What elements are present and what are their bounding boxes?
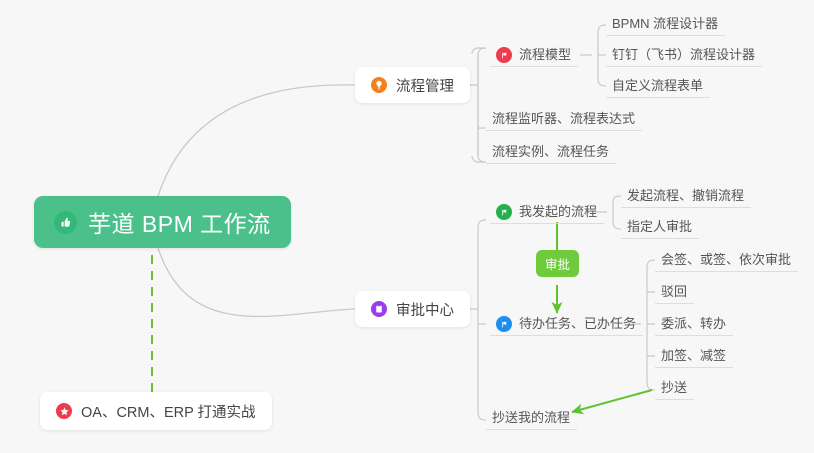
node-add-remove-sign-label: 加签、减签 — [661, 345, 726, 364]
root-node[interactable]: 芋道 BPM 工作流 — [34, 196, 291, 248]
node-bpmn-designer-label: BPMN 流程设计器 — [612, 13, 718, 32]
node-countersign[interactable]: 会签、或签、依次审批 — [655, 246, 798, 272]
node-reject-label: 驳回 — [661, 281, 687, 300]
note-node[interactable]: OA、CRM、ERP 打通实战 — [40, 392, 272, 430]
branch-approval-center-label: 审批中心 — [396, 299, 454, 320]
node-assignee-approval[interactable]: 指定人审批 — [621, 213, 699, 239]
node-cc[interactable]: 抄送 — [655, 374, 694, 400]
approval-pill-text: 审批 — [545, 254, 570, 273]
node-reject[interactable]: 驳回 — [655, 278, 694, 304]
node-process-instance[interactable]: 流程实例、流程任务 — [486, 138, 616, 164]
connector-process-model-bracket — [580, 25, 606, 86]
node-assignee-approval-label: 指定人审批 — [627, 216, 692, 235]
node-dingtalk-designer[interactable]: 钉钉（飞书）流程设计器 — [606, 41, 762, 67]
node-todo-done[interactable]: 待办任务、已办任务 — [490, 310, 643, 336]
approval-pill-label: 审批 — [536, 250, 579, 277]
root-label: 芋道 BPM 工作流 — [88, 205, 271, 239]
mindmap-canvas: 芋道 BPM 工作流 OA、CRM、ERP 打通实战 流程管理 — [0, 0, 814, 453]
node-my-initiated-label: 我发起的流程 — [519, 201, 597, 220]
node-cc-label: 抄送 — [661, 377, 687, 396]
node-process-model[interactable]: 流程模型 — [490, 41, 578, 67]
node-custom-form-label: 自定义流程表单 — [612, 75, 703, 94]
thumbs-up-icon — [54, 211, 77, 234]
arrow-cc-to-cc-to-me — [572, 390, 652, 412]
connector-root-to-approval-center — [158, 248, 355, 316]
flag-blue-icon — [496, 316, 512, 332]
branch-approval-center[interactable]: 审批中心 — [355, 291, 470, 327]
node-todo-done-label: 待办任务、已办任务 — [519, 313, 636, 332]
node-add-remove-sign[interactable]: 加签、减签 — [655, 342, 733, 368]
node-process-listener[interactable]: 流程监听器、流程表达式 — [486, 105, 642, 131]
node-my-initiated[interactable]: 我发起的流程 — [490, 198, 604, 224]
flag-red-icon — [496, 47, 512, 63]
node-process-listener-label: 流程监听器、流程表达式 — [492, 108, 635, 127]
connector-root-to-process-management — [158, 85, 355, 196]
node-custom-form[interactable]: 自定义流程表单 — [606, 72, 710, 98]
node-countersign-label: 会签、或签、依次审批 — [661, 249, 791, 268]
node-bpmn-designer[interactable]: BPMN 流程设计器 — [606, 10, 725, 36]
node-process-instance-label: 流程实例、流程任务 — [492, 141, 609, 160]
connector-process-management-bracket — [460, 48, 478, 162]
node-delegate-label: 委派、转办 — [661, 313, 726, 332]
node-process-model-label: 流程模型 — [519, 44, 571, 63]
node-cc-to-me[interactable]: 抄送我的流程 — [486, 404, 577, 430]
node-start-cancel[interactable]: 发起流程、撤销流程 — [621, 182, 751, 208]
node-start-cancel-label: 发起流程、撤销流程 — [627, 185, 744, 204]
node-dingtalk-designer-label: 钉钉（飞书）流程设计器 — [612, 44, 755, 63]
node-cc-to-me-label: 抄送我的流程 — [492, 407, 570, 426]
star-icon — [56, 403, 72, 419]
branch-process-management-label: 流程管理 — [396, 75, 454, 96]
connector-process-management-bracket-body — [478, 48, 484, 162]
branch-process-management[interactable]: 流程管理 — [355, 67, 470, 103]
clipboard-icon — [371, 301, 387, 317]
node-delegate[interactable]: 委派、转办 — [655, 310, 733, 336]
lightbulb-icon — [371, 77, 387, 93]
note-label: OA、CRM、ERP 打通实战 — [81, 401, 256, 422]
flag-green-icon — [496, 204, 512, 220]
connector-bracket-corner-top — [478, 48, 486, 56]
connector-bracket-corner-bottom — [478, 154, 486, 162]
